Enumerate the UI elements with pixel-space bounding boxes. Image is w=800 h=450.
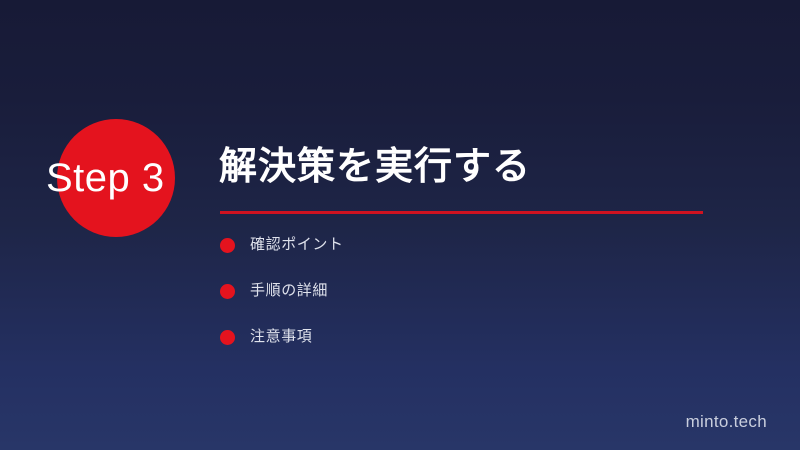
bullet-dot-icon bbox=[220, 284, 235, 299]
step-badge-label: Step 3 bbox=[46, 152, 216, 204]
title-underline-rule bbox=[220, 211, 703, 214]
presentation-slide: Step 3 解決策を実行する 確認ポイント 手順の詳細 注意事項 minto.… bbox=[0, 0, 800, 450]
slide-title: 解決策を実行する bbox=[219, 143, 531, 191]
footer-watermark: minto.tech bbox=[686, 411, 767, 433]
bullet-dot-icon bbox=[220, 238, 235, 253]
list-item: 注意事項 bbox=[220, 325, 344, 349]
bullet-list: 確認ポイント 手順の詳細 注意事項 bbox=[220, 233, 344, 371]
list-item-label: 手順の詳細 bbox=[250, 279, 328, 303]
bullet-dot-icon bbox=[220, 330, 235, 345]
list-item: 手順の詳細 bbox=[220, 279, 344, 303]
list-item-label: 注意事項 bbox=[250, 325, 312, 349]
list-item: 確認ポイント bbox=[220, 233, 344, 257]
list-item-label: 確認ポイント bbox=[250, 233, 344, 257]
